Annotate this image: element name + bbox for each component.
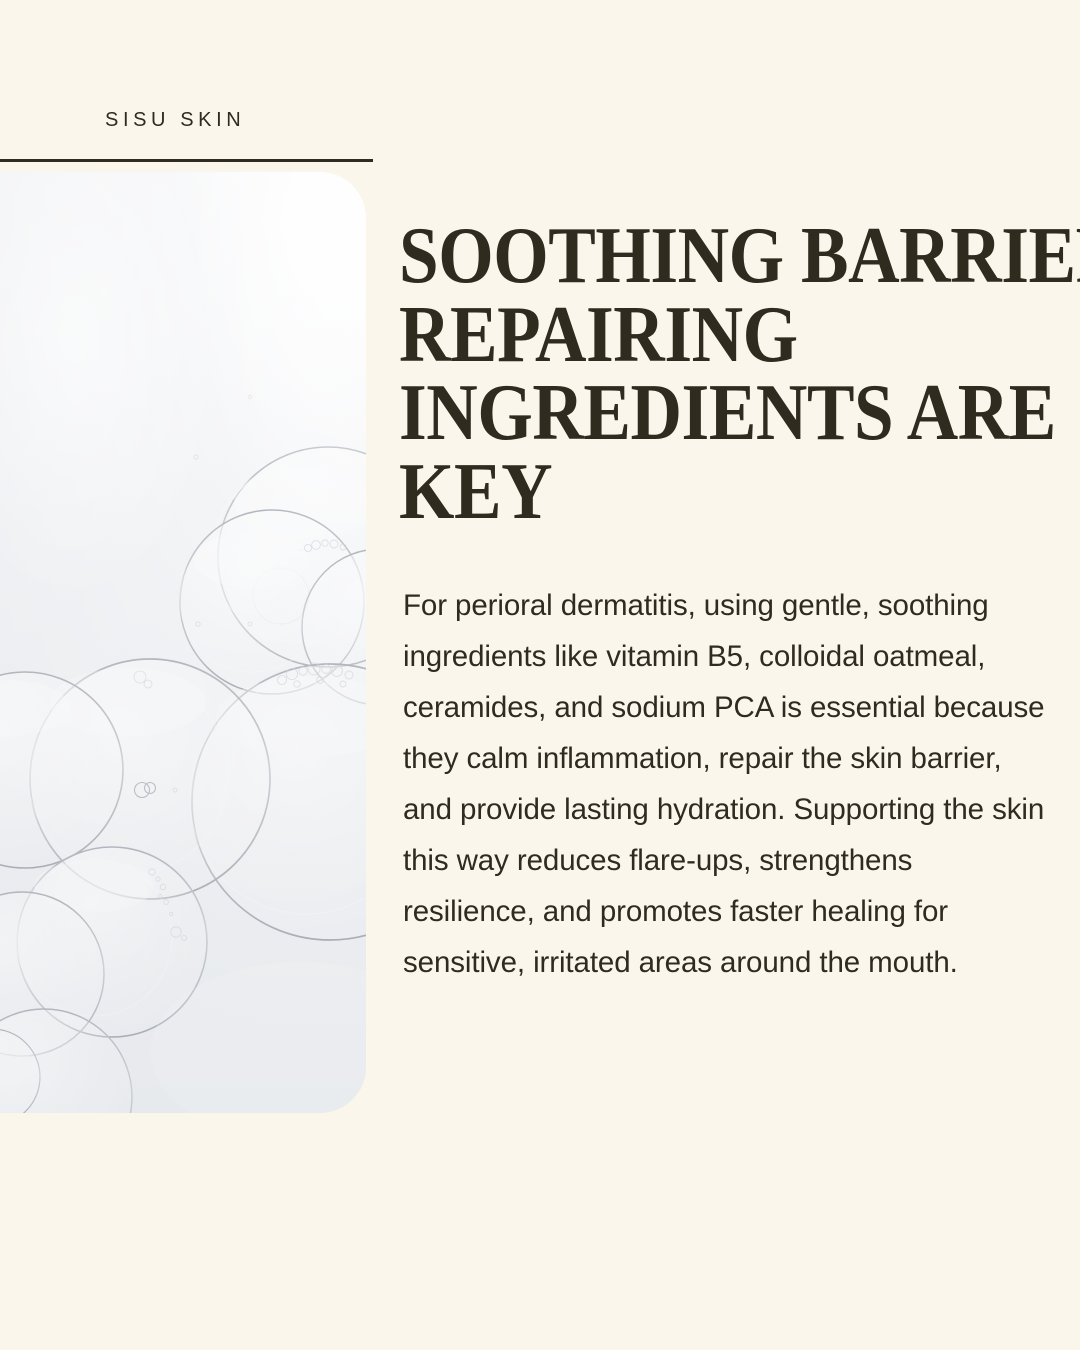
page-title: SOOTHING BARRIER REPAIRING INGREDIENTS A… — [399, 216, 980, 530]
headline-line-3: INGREDIENTS ARE — [399, 373, 980, 452]
poster-canvas: SISU SKIN — [0, 0, 1080, 1350]
body-paragraph: For perioral dermatitis, using gentle, s… — [403, 580, 1048, 988]
headline-line-4: KEY — [399, 452, 980, 531]
header-divider — [0, 159, 373, 162]
headline-line-1: SOOTHING BARRIER — [399, 216, 980, 295]
headline-line-2: REPAIRING — [399, 295, 980, 374]
brand-wordmark: SISU SKIN — [105, 110, 245, 130]
bubbles-image-panel — [0, 172, 366, 1113]
bubbles-icon — [0, 172, 366, 1113]
